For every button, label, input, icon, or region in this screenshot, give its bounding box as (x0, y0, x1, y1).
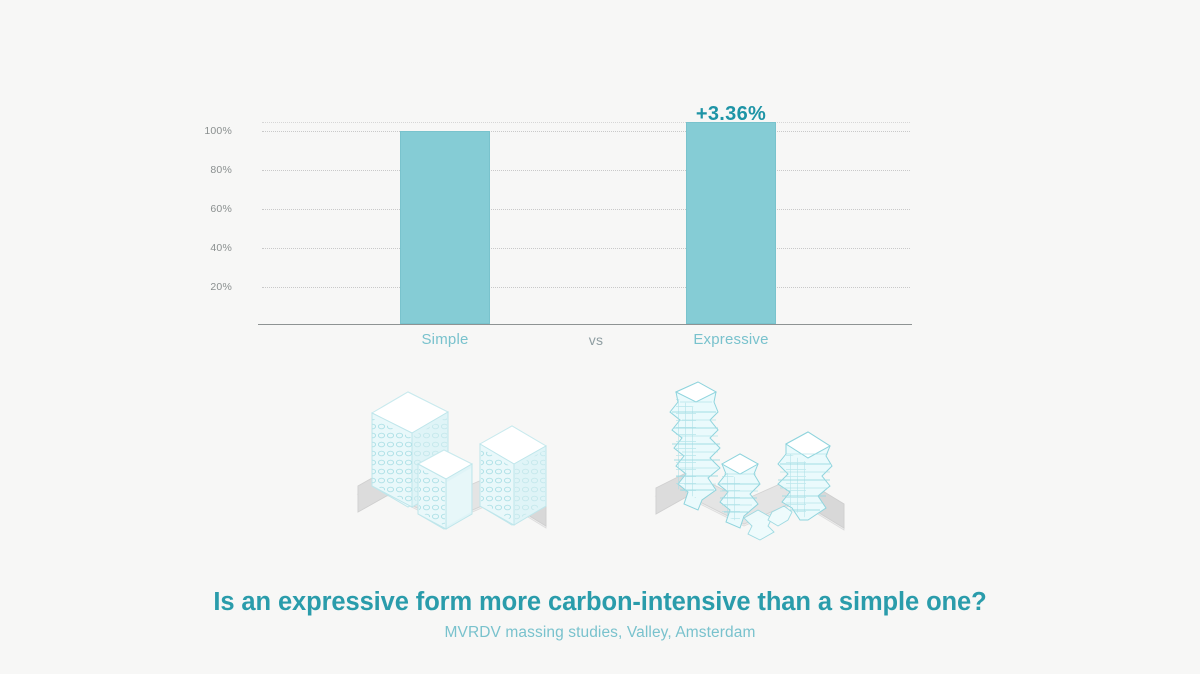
y-tick-label-40: 40% (186, 243, 232, 254)
category-label-expressive: Expressive (631, 331, 831, 348)
expressive-massing-diagram (640, 368, 870, 548)
gridline-20 (262, 287, 910, 288)
category-label-simple: Simple (345, 331, 545, 348)
y-tick-label-80: 80% (186, 165, 232, 176)
gridline-100 (262, 131, 910, 132)
slide-root: 100% 80% 60% 40% 20% +3.36% Simple vs Ex… (0, 0, 1200, 674)
gridline-40 (262, 248, 910, 249)
page-title: Is an expressive form more carbon-intens… (0, 588, 1200, 617)
bar-chart: 100% 80% 60% 40% 20% +3.36% Simple vs Ex… (0, 0, 1200, 360)
gridline-80 (262, 170, 910, 171)
bar-expressive[interactable] (686, 122, 776, 324)
x-axis-line (258, 324, 912, 325)
y-tick-label-100: 100% (186, 126, 232, 137)
page-subtitle: MVRDV massing studies, Valley, Amsterdam (0, 624, 1200, 642)
y-tick-label-20: 20% (186, 282, 232, 293)
bar-simple[interactable] (400, 131, 490, 324)
gridline-60 (262, 209, 910, 210)
delta-annotation: +3.36% (631, 103, 831, 126)
y-tick-label-60: 60% (186, 204, 232, 215)
simple-massing-diagram (350, 368, 580, 548)
